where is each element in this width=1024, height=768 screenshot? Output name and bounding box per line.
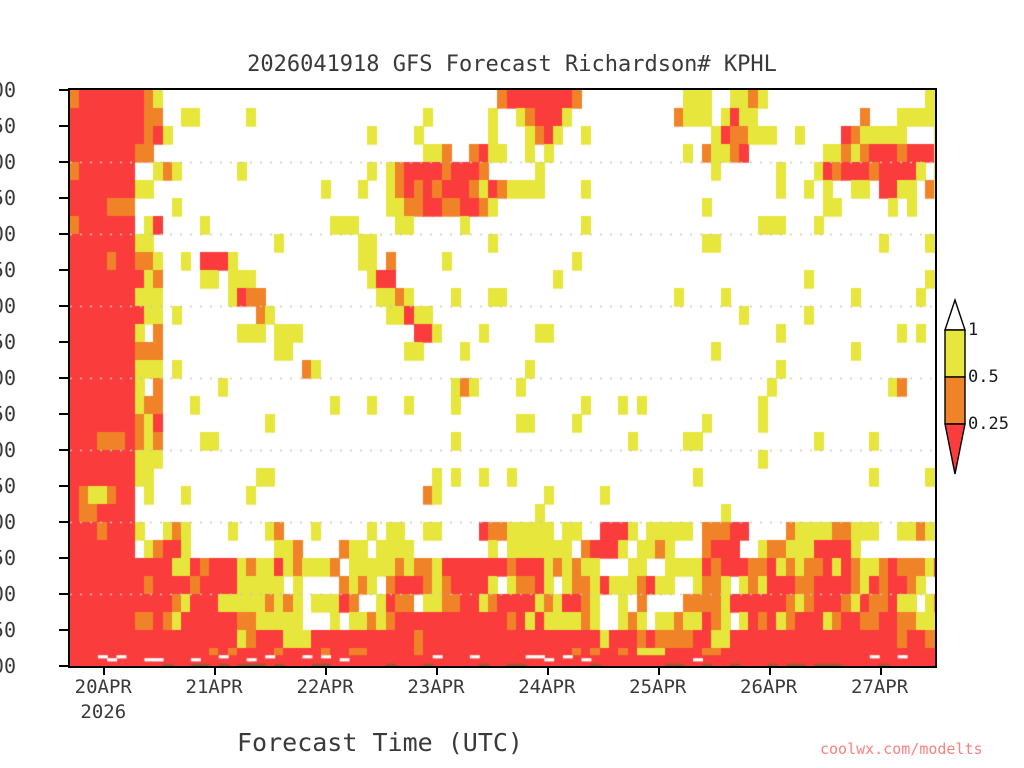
x-tick-label-24apr: 24APR: [518, 676, 575, 698]
y-tick-mark: [59, 305, 68, 307]
x-tick-mark: [103, 666, 105, 675]
x-tick-mark: [325, 666, 327, 675]
colorbar-tick-0p25: 0.25: [968, 414, 1009, 434]
forecast-chart-figure: 2026041918 GFS Forecast Richardson# KPHL…: [0, 0, 1024, 768]
y-tick-mark: [59, 269, 68, 271]
y-tick-mark: [59, 197, 68, 199]
x-tick-mark: [547, 666, 549, 675]
y-tick-mark: [59, 593, 68, 595]
x-axis-year-label: 2026: [80, 701, 126, 723]
gridlines-canvas: [70, 90, 935, 666]
y-tick-mark: [59, 125, 68, 127]
y-tick-mark: [59, 161, 68, 163]
y-tick-label-800: 800: [0, 510, 16, 534]
y-tick-mark: [59, 665, 68, 667]
y-tick-mark: [59, 629, 68, 631]
y-tick-label-500: 500: [0, 294, 16, 318]
x-tick-mark: [658, 666, 660, 675]
x-tick-mark: [436, 666, 438, 675]
colorbar-tick-1: 1: [968, 320, 978, 340]
y-tick-label-250: 250: [0, 114, 16, 138]
credit-watermark: coolwx.com/modelts: [820, 740, 983, 758]
x-tick-label-21apr: 21APR: [186, 676, 243, 698]
x-tick-label-27apr: 27APR: [851, 676, 908, 698]
y-tick-label-550: 550: [0, 330, 16, 354]
plot-area: [68, 88, 937, 668]
y-tick-mark: [59, 233, 68, 235]
colorbar-tick-0p5: 0.5: [968, 367, 999, 387]
y-tick-mark: [59, 89, 68, 91]
x-tick-mark: [880, 666, 882, 675]
y-tick-mark: [59, 485, 68, 487]
x-axis-title: Forecast Time (UTC): [0, 728, 760, 757]
chart-title: 2026041918 GFS Forecast Richardson# KPHL: [0, 52, 1024, 77]
y-tick-mark: [59, 413, 68, 415]
y-tick-label-1000: 1000: [0, 654, 16, 678]
y-tick-label-350: 350: [0, 186, 16, 210]
colorbar: 1 0.5 0.25: [930, 292, 1024, 482]
y-tick-label-650: 650: [0, 402, 16, 426]
colorbar-band-above-1: [945, 300, 965, 330]
y-tick-label-850: 850: [0, 546, 16, 570]
y-tick-label-300: 300: [0, 150, 16, 174]
y-tick-label-950: 950: [0, 618, 16, 642]
y-tick-mark: [59, 557, 68, 559]
y-tick-mark: [59, 521, 68, 523]
colorbar-band-orange: [945, 377, 965, 424]
y-tick-label-750: 750: [0, 474, 16, 498]
x-tick-label-20apr: 20APR: [75, 676, 132, 698]
y-tick-mark: [59, 377, 68, 379]
x-tick-mark: [214, 666, 216, 675]
colorbar-band-red: [945, 424, 965, 474]
y-tick-label-900: 900: [0, 582, 16, 606]
x-tick-label-25apr: 25APR: [629, 676, 686, 698]
y-tick-label-450: 450: [0, 258, 16, 282]
x-tick-label-26apr: 26APR: [740, 676, 797, 698]
y-tick-mark: [59, 449, 68, 451]
y-tick-label-600: 600: [0, 366, 16, 390]
y-tick-label-200: 200: [0, 78, 16, 102]
y-tick-mark: [59, 341, 68, 343]
y-tick-label-700: 700: [0, 438, 16, 462]
x-tick-label-23apr: 23APR: [407, 676, 464, 698]
colorbar-band-yellow: [945, 330, 965, 377]
y-tick-label-400: 400: [0, 222, 16, 246]
x-tick-mark: [769, 666, 771, 675]
x-tick-label-22apr: 22APR: [296, 676, 353, 698]
